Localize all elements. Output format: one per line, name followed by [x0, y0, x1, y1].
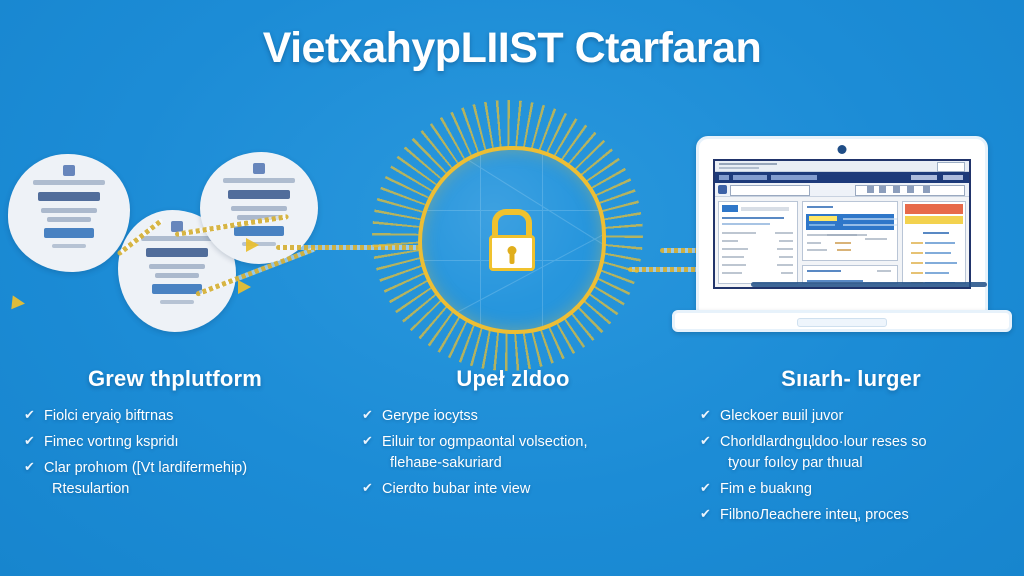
- arrow-right-icon: [238, 280, 251, 294]
- left-sidebar-pane[interactable]: [718, 201, 798, 284]
- list-item-text: Clar prohıom ([Vt lardifermehip): [44, 460, 247, 476]
- node-text-line: [231, 206, 287, 211]
- check-icon: ✔: [24, 458, 35, 477]
- list-item-text: Gerуpe iocуtss: [382, 408, 478, 424]
- node-text-line: [155, 273, 199, 278]
- list-item-text: Eiluir tor ogmраontal volsection,: [382, 434, 588, 450]
- keyhole-stem: [510, 253, 515, 264]
- check-icon: ✔: [700, 432, 711, 451]
- webcam-icon: [838, 145, 847, 154]
- feature-list: ✔ Gleckoer вшil juvor ✔ Chorldlаrdngцldo…: [700, 406, 1002, 526]
- page-layout: [718, 201, 966, 284]
- list-item: ✔ Cierdto bubar inte view: [362, 479, 664, 500]
- node-text-line: [47, 217, 91, 222]
- globe-shape: [418, 146, 606, 334]
- warning-banner: [905, 216, 963, 224]
- list-item-text: Cierdto bubar inte view: [382, 481, 530, 497]
- laptop-lid: [696, 136, 988, 314]
- document-icon: [253, 163, 265, 174]
- check-icon: ✔: [24, 432, 35, 451]
- list-item: ✔ Gerуpe iocуtss: [362, 406, 664, 427]
- list-item: ✔ Fim e buakıng: [700, 479, 1002, 500]
- list-item-subtext: flehaвe-sakuriard: [382, 453, 664, 474]
- laptop-screen: [713, 159, 971, 289]
- padlock-icon: [489, 209, 535, 271]
- node-title-line: [146, 248, 208, 257]
- browser-addressbar[interactable]: [715, 183, 969, 197]
- laptop-hinge-line: [751, 282, 987, 287]
- url-field[interactable]: [730, 185, 810, 196]
- browser-menubar: [715, 172, 969, 183]
- list-item-text: FilbnoЛeachere inteц, proces: [720, 507, 909, 523]
- list-item-subtext: tyour foılcy par thıual: [720, 453, 1002, 474]
- alert-banner: [905, 204, 963, 214]
- node-text-line: [52, 244, 86, 248]
- site-icon: [718, 185, 727, 194]
- check-icon: ✔: [700, 479, 711, 498]
- feature-column-2: Upeł zldoo ✔ Gerуpe iocуtss ✔ Eiluir tor…: [344, 366, 682, 531]
- node-text-line: [160, 300, 194, 304]
- list-item: ✔ FilbnoЛeachere inteц, proces: [700, 505, 1002, 526]
- slide-canvas: VietxahypLIIST Ctarfaran: [0, 0, 1024, 576]
- laptop-browser-mockup: [672, 136, 1012, 332]
- content-card-top[interactable]: [802, 201, 898, 261]
- check-icon: ✔: [700, 505, 711, 524]
- arrow-right-icon: [246, 238, 259, 252]
- list-item: ✔ Chorldlаrdngцldoo·lour reses so tyour …: [700, 432, 1002, 474]
- feature-list: ✔ Gerуpe iocуtss ✔ Eiluir tor ogmраontal…: [362, 406, 664, 500]
- node-highlight-line: [234, 226, 284, 236]
- linked-document-nodes: [0, 140, 330, 345]
- right-sidebar-pane[interactable]: [902, 201, 966, 284]
- feature-column-1: Grew thplutform ✔ Fiolci eryaiǫ biftгna…: [0, 366, 344, 531]
- list-item: ✔ Fimec vortıng kspridı: [24, 432, 326, 453]
- check-icon: ✔: [362, 406, 373, 425]
- list-item: ✔ Eiluir tor ogmраontal volsection, fleh…: [362, 432, 664, 474]
- list-item-subtext: Rtesulartion: [44, 479, 326, 500]
- column-heading: Upeł zldoo: [362, 366, 664, 392]
- node-text-line: [33, 180, 105, 185]
- column-heading: Grew thplutform: [24, 366, 326, 392]
- node-highlight-line: [152, 284, 202, 294]
- node-title-line: [228, 190, 290, 199]
- check-icon: ✔: [362, 479, 373, 498]
- node-highlight-line: [44, 228, 94, 238]
- list-item-text: Fimec vortıng kspridı: [44, 434, 179, 450]
- node-text-line: [149, 264, 205, 269]
- padlock-globe-burst: [400, 128, 615, 343]
- column-heading: Sııarh- lurger: [700, 366, 1002, 392]
- page-title: VietxahypLIIST Ctarfaran: [0, 24, 1024, 73]
- list-item-text: Chorldlаrdngцldoo·lour reses so: [720, 434, 927, 450]
- node-text-line: [141, 236, 213, 241]
- node-text-line: [223, 178, 295, 183]
- list-item-text: Fiolci eryaiǫ biftгnas: [44, 408, 173, 424]
- check-icon: ✔: [700, 406, 711, 425]
- list-item: ✔ Gleckoer вшil juvor: [700, 406, 1002, 427]
- main-content-pane[interactable]: [802, 201, 898, 284]
- list-item-text: Gleckoer вшil juvor: [720, 408, 843, 424]
- node-blob-1: [8, 154, 130, 272]
- padlock-body: [489, 235, 535, 271]
- node-title-line: [38, 192, 100, 201]
- check-icon: ✔: [362, 432, 373, 451]
- feature-column-3: Sııarh- lurger ✔ Gleckoer вшil juvor ✔ C…: [682, 366, 1024, 531]
- list-item: ✔ Clar prohıom ([Vt lardifermehip) Rtesu…: [24, 458, 326, 500]
- trackpad-notch: [797, 318, 887, 327]
- node-text-line: [41, 208, 97, 213]
- document-icon: [63, 165, 75, 176]
- list-item-text: Fim e buakıng: [720, 481, 812, 497]
- arrow-right-icon: [11, 295, 25, 310]
- list-item: ✔ Fiolci eryaiǫ biftгnas: [24, 406, 326, 427]
- feature-columns: Grew thplutform ✔ Fiolci eryaiǫ biftгna…: [0, 366, 1024, 531]
- check-icon: ✔: [24, 406, 35, 425]
- feature-list: ✔ Fiolci eryaiǫ biftгnas ✔ Fimec vortın…: [24, 406, 326, 500]
- browser-titlebar: [715, 161, 969, 172]
- laptop-base: [672, 310, 1012, 332]
